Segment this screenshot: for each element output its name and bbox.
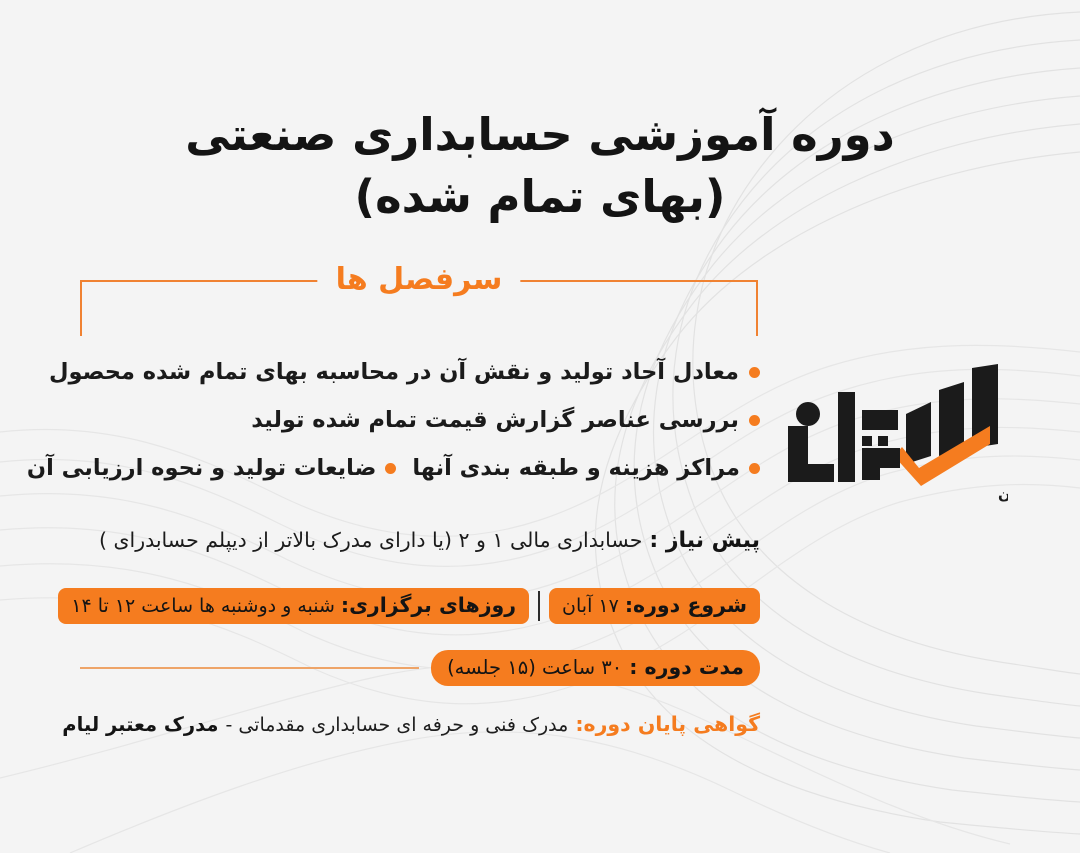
topic-label: ضایعات تولید و نحوه ارزیابی آن <box>27 455 376 482</box>
list-item: مراکز هزینه و طبقه بندی آنها ضایعات تولی… <box>80 444 760 492</box>
schedule-badge-row: شروع دوره: ۱۷ آبان روزهای برگزاری: شنبه … <box>80 588 760 624</box>
status-badge-class-days: روزهای برگزاری: شنبه و دوشنبه ها ساعت ۱۲… <box>58 588 529 624</box>
title-line-2: (بهای تمام شده) <box>40 166 1040 228</box>
duration-label: مدت دوره : <box>629 655 744 679</box>
topic-label: معادل آحاد تولید و نقش آن در محاسبه بهای… <box>49 359 739 386</box>
badge-divider <box>538 591 540 621</box>
certificate-row: گواهی پایان دوره: مدرک فنی و حرفه ای حسا… <box>80 712 760 736</box>
prerequisite-label: پیش نیاز : <box>649 528 760 553</box>
topics-header-label: سرفصل ها <box>318 258 521 302</box>
topic-label: مراکز هزینه و طبقه بندی آنها <box>412 455 740 482</box>
class-days-value: شنبه و دوشنبه ها ساعت ۱۲ تا ۱۴ <box>71 595 335 617</box>
logo-wordmark <box>788 392 900 482</box>
bullet-dot-icon <box>385 463 396 474</box>
course-poster: دوره آموزشی حسابداری صنعتی (بهای تمام شد… <box>0 0 1080 853</box>
prerequisite-value: حسابداری مالی ۱ و ۲ (یا دارای مدرک بالات… <box>99 528 642 552</box>
certificate-text: مدرک فنی و حرفه ای حسابداری مقدماتی - <box>225 714 568 736</box>
topics-section-header: سرفصل ها <box>80 258 758 336</box>
duration-row: مدت دوره : ۳۰ ساعت (۱۵ جلسه) <box>80 650 760 686</box>
logo-tagline: نرم افزار حسابداری آنلاین <box>998 484 1008 502</box>
list-item: بررسی عناصر گزارش قیمت تمام شده تولید <box>80 396 760 444</box>
certificate-label: گواهی پایان دوره: <box>575 712 760 736</box>
page-title: دوره آموزشی حسابداری صنعتی (بهای تمام شد… <box>40 104 1040 228</box>
start-date-value: ۱۷ آبان <box>562 595 619 617</box>
topic-entry: مراکز هزینه و طبقه بندی آنها <box>412 455 760 482</box>
list-item: معادل آحاد تولید و نقش آن در محاسبه بهای… <box>80 348 760 396</box>
topics-list: معادل آحاد تولید و نقش آن در محاسبه بهای… <box>80 348 760 492</box>
bullet-dot-icon <box>749 463 760 474</box>
status-badge-start-date: شروع دوره: ۱۷ آبان <box>549 588 760 624</box>
bullet-dot-icon <box>749 415 760 426</box>
topic-label: بررسی عناصر گزارش قیمت تمام شده تولید <box>251 407 739 434</box>
prerequisite-row: پیش نیاز : حسابداری مالی ۱ و ۲ (یا دارای… <box>80 528 760 553</box>
status-badge-duration: مدت دوره : ۳۰ ساعت (۱۵ جلسه) <box>431 650 760 686</box>
title-line-1: دوره آموزشی حسابداری صنعتی <box>40 104 1040 166</box>
liam-logo: نرم افزار حسابداری آنلاین <box>776 352 1008 502</box>
duration-value: ۳۰ ساعت (۱۵ جلسه) <box>447 656 622 679</box>
bullet-dot-icon <box>749 367 760 378</box>
class-days-label: روزهای برگزاری: <box>341 593 516 617</box>
start-date-label: شروع دوره: <box>625 593 747 617</box>
certificate-emphasis: مدرک معتبر لیام <box>62 713 218 736</box>
topic-entry: ضایعات تولید و نحوه ارزیابی آن <box>27 455 396 482</box>
duration-divider-line <box>80 667 419 669</box>
